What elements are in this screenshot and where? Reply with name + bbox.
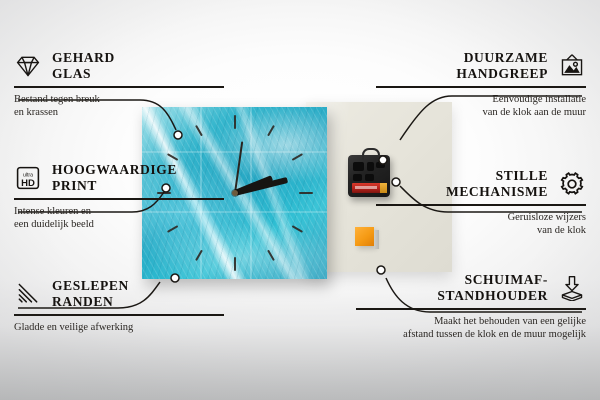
clock-center-pin [232, 190, 238, 196]
feature-desc-line2: van de klok [376, 224, 586, 237]
ultra-hd-icon: ultra HD [14, 165, 42, 191]
feature-title-line1: HOOGWAARDIGE [52, 162, 177, 178]
svg-text:HD: HD [21, 178, 35, 189]
feature-rule [376, 204, 586, 206]
feature-desc-line1: Intense kleuren en [14, 205, 224, 218]
picture-frame-hanging-icon [558, 53, 586, 79]
feature-desc-line2: afstand tussen de klok en de muur mogeli… [356, 328, 586, 341]
feature-title-line1: SCHUIMAF- [437, 272, 548, 288]
feature-rule [14, 314, 224, 316]
feature-rule [356, 308, 586, 310]
feature-schuimafstandhouder: SCHUIMAF- STANDHOUDER Maakt het behouden… [356, 272, 586, 341]
feature-title-line2: HANDGREEP [456, 66, 548, 82]
feature-desc-line2: een duidelijk beeld [14, 218, 224, 231]
feature-title-line1: STILLE [446, 168, 548, 184]
product-infographic: GEHARD GLAS Bestand tegen breuk en krass… [0, 0, 600, 400]
feature-desc-line1: Eenvoudige installatie [376, 93, 586, 106]
feature-rule [14, 198, 224, 200]
feature-title-line1: DUURZAME [456, 50, 548, 66]
feature-duurzame-handgreep: DUURZAME HANDGREEP Eenvoudige installati… [376, 50, 586, 119]
feature-title-line2: PRINT [52, 178, 177, 194]
feature-hoogwaardige-print: ultra HD HOOGWAARDIGE PRINT Intense kleu… [14, 162, 224, 231]
feature-stille-mechanisme: STILLE MECHANISME Geruisloze wijzers van… [376, 168, 586, 237]
feature-title-line1: GESLEPEN [52, 278, 129, 294]
hanging-hook [362, 148, 380, 160]
diamond-icon [14, 53, 42, 79]
feature-title-line2: RANDEN [52, 294, 129, 310]
feature-geslepen-randen: GESLEPEN RANDEN Gladde en veilige afwerk… [14, 278, 224, 334]
bevelled-edges-icon [14, 281, 42, 307]
feature-title-line2: STANDHOUDER [437, 288, 548, 304]
feature-title-line2: MECHANISME [446, 184, 548, 200]
feature-rule [14, 86, 224, 88]
foam-spacer-icon [558, 275, 586, 301]
feature-gehard-glas: GEHARD GLAS Bestand tegen breuk en krass… [14, 50, 224, 119]
feature-desc-line2: en krassen [14, 106, 224, 119]
feature-title-line1: GEHARD [52, 50, 115, 66]
feature-desc-line2: van de klok aan de muur [376, 106, 586, 119]
feature-desc-line1: Maakt het behouden van een gelijke [356, 315, 586, 328]
feature-desc-line1: Geruisloze wijzers [376, 211, 586, 224]
feature-rule [376, 86, 586, 88]
feature-title-line2: GLAS [52, 66, 115, 82]
feature-desc-line1: Bestand tegen breuk [14, 93, 224, 106]
feature-desc-line1: Gladde en veilige afwerking [14, 321, 224, 334]
foam-spacer-pad [355, 227, 374, 246]
gear-icon [558, 171, 586, 197]
